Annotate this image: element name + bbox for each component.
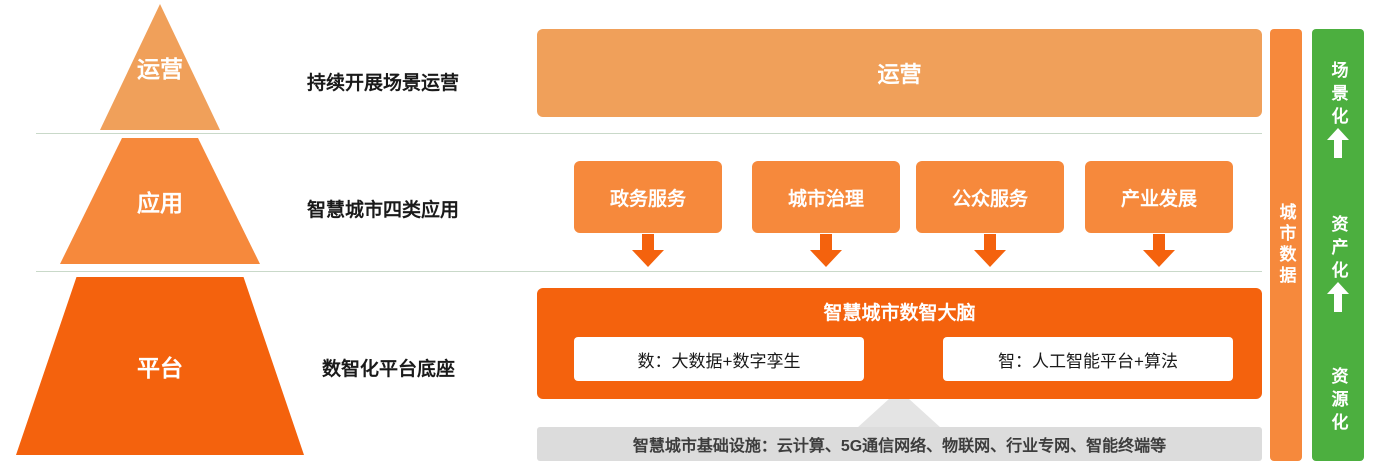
city-data-label: 城市数据 [1278,203,1295,287]
infrastructure-label: 智慧城市基础设施：云计算、5G通信网络、物联网、行业专网、智能终端等 [633,432,1166,456]
infrastructure-bar: 智慧城市基础设施：云计算、5G通信网络、物联网、行业专网、智能终端等 [537,427,1262,461]
value-chain-bar: 场景化 资产化 资源化 [1312,29,1364,461]
arrow-up-icon [1327,128,1349,158]
arrow-down-icon [973,234,1007,268]
pyramid-layer-application-label: 应用 [137,184,183,218]
arrow-down-icon [1142,234,1176,268]
value-stage-label: 资产化 [1330,215,1347,284]
divider-operation-application [36,133,1262,134]
arrow-down-icon [631,234,665,268]
application-box-industry-development: 产业发展 [1085,161,1233,233]
side-label-application: 智慧城市四类应用 [307,195,459,222]
pyramid-layer-platform-label: 平台 [137,349,183,383]
pyramid-layer-operation-label: 运营 [137,50,183,84]
application-box-label: 城市治理 [788,184,864,211]
smart-brain-card-intelligence: 智：人工智能平台+算法 [943,337,1233,381]
smart-brain-card-label: 数：大数据+数字孪生 [638,347,801,372]
smart-brain-card-data: 数：大数据+数字孪生 [574,337,864,381]
application-box-city-governance: 城市治理 [752,161,900,233]
operation-bar-label: 运营 [877,57,921,89]
value-stage-label: 场景化 [1330,61,1347,130]
smart-brain-card-label: 智：人工智能平台+算法 [998,347,1178,372]
application-box-government: 政务服务 [574,161,722,233]
side-label-operation: 持续开展场景运营 [307,68,459,95]
value-stage-label: 资源化 [1330,367,1347,436]
side-label-platform: 数智化平台底座 [322,354,455,381]
diagram-canvas: 运营 应用 平台 持续开展场景运营 智慧城市四类应用 数智化平台底座 运营 政务… [0,0,1378,472]
divider-application-platform [36,271,1262,272]
application-box-label: 公众服务 [952,184,1028,211]
pyramid-layer-platform: 平台 [16,277,304,455]
pyramid-layer-operation: 运营 [100,4,220,130]
arrow-down-icon [809,234,843,268]
smart-brain-title: 智慧城市数智大脑 [537,298,1262,325]
smart-brain-panel: 智慧城市数智大脑 数：大数据+数字孪生 智：人工智能平台+算法 [537,288,1262,399]
application-box-public-service: 公众服务 [916,161,1064,233]
application-box-label: 产业发展 [1121,184,1197,211]
pyramid-layer-application: 应用 [60,138,260,264]
city-data-bar: 城市数据 [1270,29,1302,461]
infrastructure-connector [857,399,941,428]
arrow-up-icon [1327,282,1349,312]
application-box-label: 政务服务 [610,184,686,211]
operation-bar: 运营 [537,29,1262,117]
value-stage-resource: 资源化 [1312,349,1364,453]
